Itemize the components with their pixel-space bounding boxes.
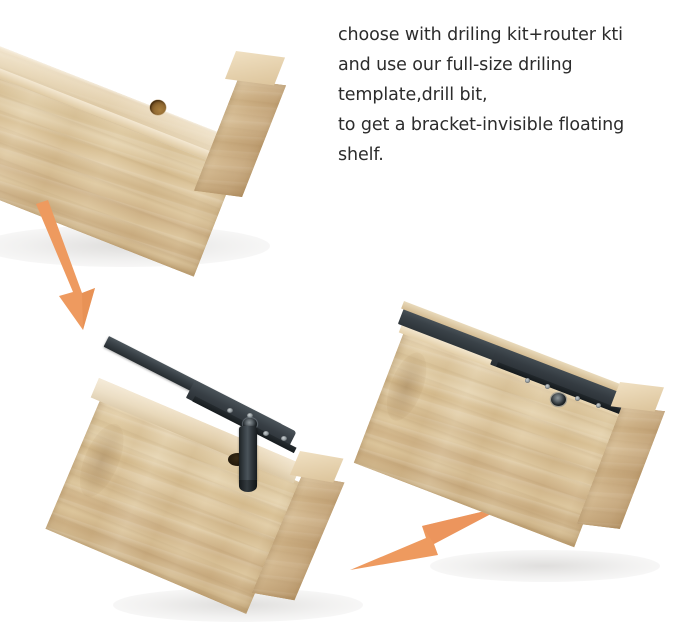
plank-end-chamfer [225,51,285,85]
instruction-image: choose with driling kit+router kti and u… [0,0,679,630]
drill-hole [150,100,166,115]
screw-hole-4 [281,436,287,441]
screw-hole-3 [263,431,269,436]
installed-screw-hole-3 [575,396,580,401]
installed-screw-hole-4 [596,403,601,408]
arrow-step1-to-step2 [28,196,120,338]
installed-screw-hole-2 [545,384,550,389]
step-2-bracket-insertion [95,320,375,630]
plank3-knot [379,347,435,426]
installed-bolt-hole [551,393,566,406]
bracket-rod-tip [239,480,257,492]
instruction-text: choose with driling kit+router kti and u… [338,20,668,170]
screw-hole-1 [227,408,233,413]
plank-knot [0,88,6,169]
plank3-body [390,288,679,588]
arrow-head-shade [82,288,95,330]
plank3-end-chamfer [611,382,664,412]
bracket-rod [239,426,257,488]
bracket-assembly [95,320,375,630]
installed-screw-hole-1 [525,378,530,383]
step-3-bracket-installed [390,288,679,588]
